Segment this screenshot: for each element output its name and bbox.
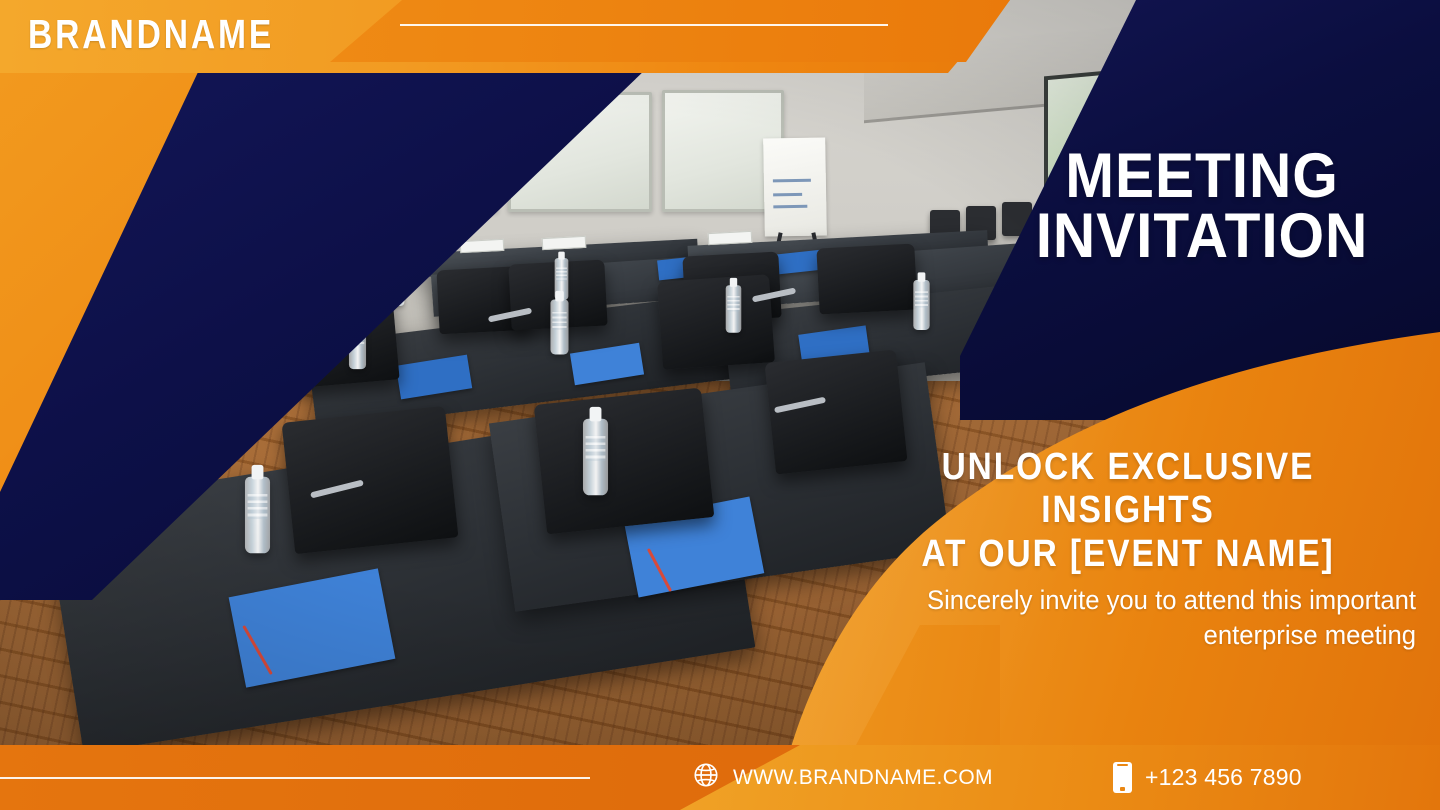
headline-line-1: UNLOCK EXCLUSIVE INSIGHTS [873,446,1383,533]
globe-icon [692,761,720,794]
contact-phone[interactable]: +123 456 7890 [1113,745,1302,810]
poster-title: MEETING INVITATION [982,146,1422,267]
brand-name: BRANDNAME [28,11,274,58]
headline-line-2: AT OUR [EVENT NAME] [873,533,1383,576]
title-line-2: INVITATION [997,206,1406,266]
meeting-invitation-poster: BRANDNAME MEETING INVITATION UNLOCK EXCL… [0,0,1440,810]
website-text: WWW.BRANDNAME.COM [733,766,993,790]
phone-text: +123 456 7890 [1145,764,1302,791]
phone-icon [1113,762,1132,793]
contact-website[interactable]: WWW.BRANDNAME.COM [692,745,993,810]
header-bar-accent [330,0,1010,62]
header-rule [400,24,888,26]
headline: UNLOCK EXCLUSIVE INSIGHTS AT OUR [EVENT … [838,446,1418,576]
footer-rule [0,777,590,779]
graphic-overlay: BRANDNAME MEETING INVITATION UNLOCK EXCL… [0,0,1440,810]
title-line-1: MEETING [997,146,1406,206]
